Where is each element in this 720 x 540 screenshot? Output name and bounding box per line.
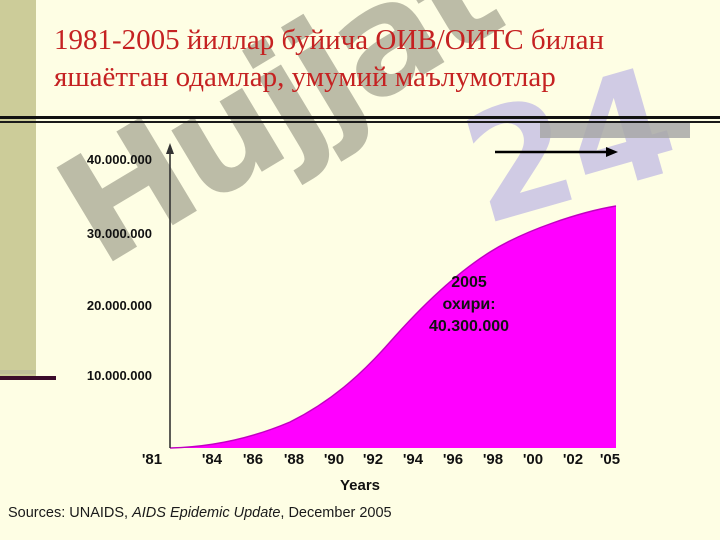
x-tick-label-00: '00 [523, 451, 543, 468]
source-prefix: Sources: UNAIDS, [8, 505, 132, 521]
x-tick-label-02: '02 [563, 451, 583, 468]
x-axis-caption: Years [0, 477, 720, 494]
source-note: Sources: UNAIDS, AIDS Epidemic Update, D… [8, 505, 392, 521]
source-publication: AIDS Epidemic Update [132, 505, 280, 521]
x-tick-label-05: '05 [600, 451, 620, 468]
slide-canvas: Hujjat 24 1981-2005 йиллар буйича ОИВ/ОИ… [0, 0, 720, 540]
annotation-line-2: охири: [414, 294, 524, 316]
x-tick-label-88: '88 [284, 451, 304, 468]
y-tick-label-40m: 40.000.000 [56, 152, 152, 167]
area-series-hiv-population [170, 206, 616, 448]
y-tick-label-20m: 20.000.000 [56, 298, 152, 313]
x-tick-label-90: '90 [324, 451, 344, 468]
y-tick-label-10m: 10.000.000 [56, 368, 152, 383]
x-tick-label-84: '84 [202, 451, 222, 468]
y-axis-arrowhead [166, 143, 174, 154]
x-tick-label-96: '96 [443, 451, 463, 468]
annotation-arrowhead [606, 147, 618, 157]
page-title: 1981-2005 йиллар буйича ОИВ/ОИТС билан я… [54, 22, 704, 96]
x-tick-label-94: '94 [403, 451, 423, 468]
title-divider-inner [0, 121, 720, 123]
x-tick-label-92: '92 [363, 451, 383, 468]
x-tick-label-86: '86 [243, 451, 263, 468]
annotation-line-3: 40.300.000 [414, 316, 524, 338]
peak-annotation: 2005 охири: 40.300.000 [414, 272, 524, 338]
annotation-line-1: 2005 [414, 272, 524, 294]
source-suffix: , December 2005 [280, 505, 391, 521]
x-tick-label-98: '98 [483, 451, 503, 468]
x-tick-label-81: '81 [142, 451, 162, 468]
y-tick-label-30m: 30.000.000 [56, 226, 152, 241]
title-divider-outer [0, 116, 720, 119]
